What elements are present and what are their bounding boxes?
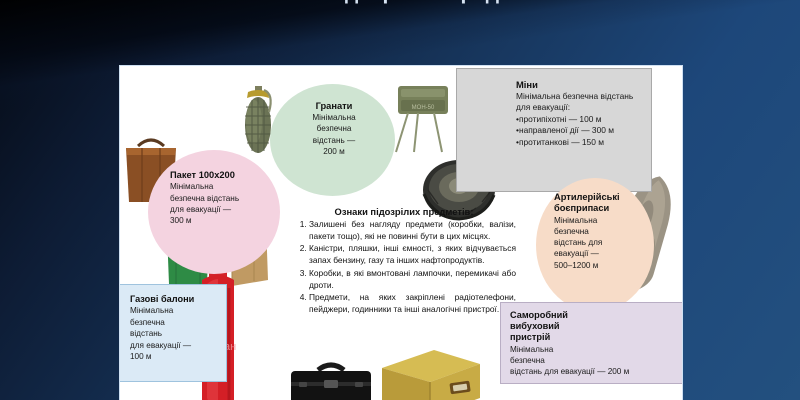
suspicious-signs-item-4: Предмети, на яких закріплені радіотелефо… (309, 292, 516, 316)
presentation-slide: Ознаки підозрілих предметів (0, 0, 800, 400)
callout-artillery-line-3: відстань для (554, 237, 632, 248)
callout-packet-title: Пакет 100х200 (170, 170, 274, 181)
callout-artillery-line-2: безпечна (554, 226, 632, 237)
callout-mines-lead: Мінімальна безпечна відстань для евакуац… (516, 91, 646, 114)
callout-ied-line-1: Мінімальна (510, 344, 682, 355)
callout-artillery-line-5: 500–1200 м (554, 260, 632, 271)
callout-packet: Пакет 100х200 Мінімальна безпечна відста… (148, 150, 280, 274)
callout-mines-item-3: протитанкові — 150 м (516, 137, 646, 149)
suspicious-signs-item-1: Залишені без нагляду предмети (коробки, … (309, 219, 516, 243)
callout-gas-line-5: 100 м (130, 351, 222, 362)
callout-grenades-title: Гранати (292, 101, 376, 112)
callout-mines-list: протипіхотні — 100 м направленої дії — 3… (516, 114, 646, 149)
suspicious-signs-list: Залишені без нагляду предмети (коробки, … (292, 219, 516, 316)
callout-gas-line-2: безпечна (130, 317, 222, 328)
callout-packet-line-2: безпечна відстань (170, 193, 274, 204)
callout-grenades-line-1: Мінімальна (292, 112, 376, 123)
directional-mine-image: MOH-50 (392, 82, 454, 156)
callout-artillery-line-4: евакуації — (554, 248, 632, 259)
infographic-panel: MOH-50 (120, 66, 682, 400)
callout-packet-line-1: Мінімальна (170, 181, 274, 192)
callout-grenades-line-4: 200 м (292, 146, 376, 157)
callout-gas-cylinders: Газові балони Мінімальна безпечна відста… (120, 284, 227, 382)
callout-mines-title: Міни (516, 79, 646, 91)
callout-ied: Саморобний вибуховий пристрій Мінімальна… (500, 302, 682, 384)
callout-grenades-line-2: безпечна (292, 123, 376, 134)
callout-packet-line-4: 300 м (170, 215, 274, 226)
callout-ied-title-2: вибуховий (510, 321, 682, 332)
callout-gas-line-3: відстань (130, 328, 222, 339)
callout-ied-title-3: пристрій (510, 332, 682, 343)
suspicious-signs-title: Ознаки підозрілих предметів: (292, 206, 516, 217)
cardboard-box-image (378, 346, 484, 400)
suspicious-signs-block: Ознаки підозрілих предметів: Залишені бе… (292, 206, 516, 316)
callout-gas-line-4: для евакуації — (130, 340, 222, 351)
callout-mines-item-2: направленої дії — 300 м (516, 125, 646, 137)
callout-gas-line-1: Мінімальна (130, 305, 222, 316)
suspicious-signs-item-2: Каністри, пляшки, інші ємності, з яких в… (309, 243, 516, 267)
callout-ied-line-2: безпечна (510, 355, 682, 366)
callout-ied-title-1: Саморобний (510, 310, 682, 321)
callout-ied-line-3: відстань для евакуації — 200 м (510, 366, 682, 377)
callout-gas-title: Газові балони (130, 294, 222, 305)
callout-mines: Міни Мінімальна безпечна відстань для ев… (456, 68, 652, 192)
svg-text:MOH-50: MOH-50 (412, 105, 435, 111)
callout-artillery-title: Артилерійські боєприпаси (554, 192, 632, 215)
suspicious-signs-item-3: Коробки, в які вмонтовані лампочки, пере… (309, 268, 516, 292)
callout-artillery: Артилерійські боєприпаси Мінімальна безп… (536, 178, 654, 312)
black-briefcase-image (288, 358, 374, 400)
callout-artillery-line-1: Мінімальна (554, 215, 632, 226)
callout-packet-line-3: для евакуації — (170, 204, 274, 215)
slide-title-clipped: Ознаки підозрілих предметів (0, 0, 800, 5)
callout-mines-item-1: протипіхотні — 100 м (516, 114, 646, 126)
callout-grenades: Гранати Мінімальна безпечна відстань — 2… (270, 84, 395, 196)
callout-grenades-line-3: відстань — (292, 135, 376, 146)
